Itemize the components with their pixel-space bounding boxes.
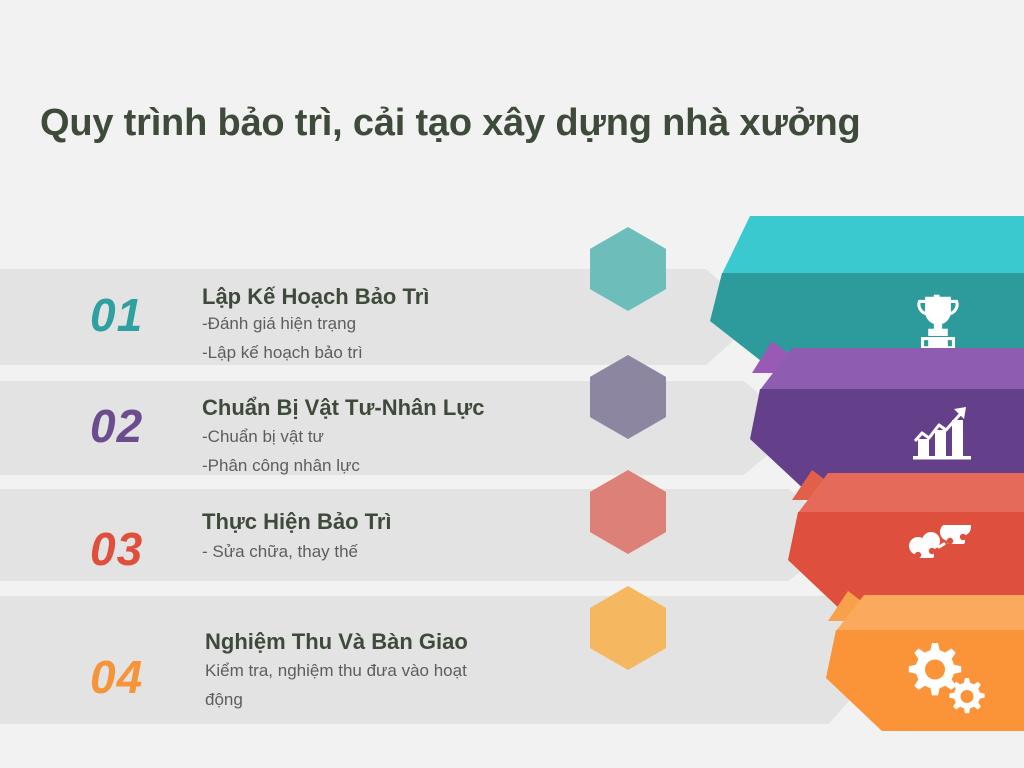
ribbon-1-top-face	[710, 216, 1024, 274]
chain-link-icon	[905, 525, 979, 575]
step-number-2: 02	[90, 399, 143, 453]
trophy-icon	[905, 288, 971, 354]
step-number-1: 01	[90, 288, 143, 342]
ribbon-2	[750, 348, 1024, 493]
step-bullet-4-1: động	[205, 688, 605, 713]
step-bullet-4-0: Kiểm tra, nghiệm thu đưa vào hoạt	[205, 659, 605, 684]
ribbon-4	[826, 595, 1024, 731]
ribbon-2-top-face	[750, 348, 1024, 390]
step-bullet-3-0: - Sửa chữa, thay thế	[202, 540, 572, 565]
step-bullet-1-0: -Đánh giá hiện trạng	[202, 312, 572, 337]
step-title-4: Nghiệm Thu Và Bàn Giao	[205, 629, 468, 655]
growth-chart-icon	[910, 403, 978, 465]
step-title-3: Thực Hiện Bảo Trì	[202, 509, 392, 535]
gears-icon	[901, 637, 987, 715]
step-number-3: 03	[90, 522, 143, 576]
step-number-4: 04	[90, 650, 143, 704]
step-title-1: Lập Kế Hoạch Bảo Trì	[202, 284, 429, 310]
ribbon-1	[710, 216, 1024, 368]
ribbon-3-top-face	[788, 473, 1024, 513]
step-bullet-1-1: -Lập kế hoạch bảo trì	[202, 341, 572, 366]
ribbon-3	[788, 473, 1024, 613]
step-title-2: Chuẩn Bị Vật Tư-Nhân Lực	[202, 395, 484, 421]
ribbon-4-top-face	[826, 595, 1024, 631]
step-bullet-2-0: -Chuẩn bị vật tư	[202, 425, 572, 450]
step-bullet-2-1: -Phân công nhân lực	[202, 454, 572, 479]
infographic-canvas: Quy trình bảo trì, cải tạo xây dựng nhà …	[0, 0, 1024, 768]
